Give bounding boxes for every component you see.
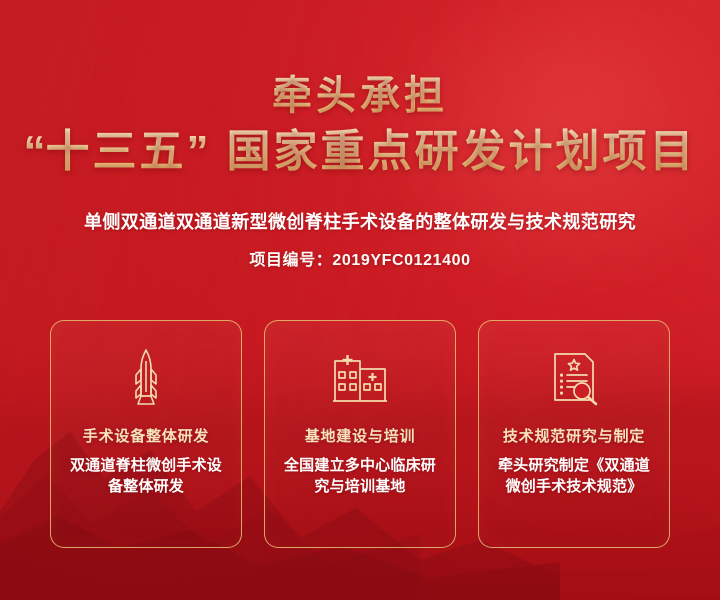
quote-close-glyph: ” <box>187 127 209 176</box>
rocket-icon <box>125 347 167 409</box>
page-title-keyword: 十三五 <box>46 127 187 176</box>
page-title-remainder: 国家重点研发计划项目 <box>227 127 697 176</box>
feature-card-list: 手术设备整体研发 双通道脊柱微创手术设备整体研发 <box>0 320 720 548</box>
feature-card-equipment[interactable]: 手术设备整体研发 双通道脊柱微创手术设备整体研发 <box>50 320 242 548</box>
feature-card-description: 双通道脊柱微创手术设备整体研发 <box>66 455 226 498</box>
feature-card-standards[interactable]: 技术规范研究与制定 牵头研究制定《双通道微创手术技术规范》 <box>478 320 670 548</box>
feature-card-description: 全国建立多中心临床研究与培训基地 <box>280 455 440 498</box>
background-glow <box>302 0 720 372</box>
document-search-icon <box>547 347 601 409</box>
feature-card-title: 技术规范研究与制定 <box>503 425 645 446</box>
quote-open-glyph: “ <box>24 127 46 176</box>
banner-stage: 牵头承担 “十三五”国家重点研发计划项目 单侧双通道双通道新型微创脊柱手术设备的… <box>0 0 720 600</box>
feature-card-training-base[interactable]: 基地建设与培训 全国建立多中心临床研究与培训基地 <box>264 320 456 548</box>
feature-card-title: 手术设备整体研发 <box>83 425 209 446</box>
project-subtitle: 单侧双通道双通道新型微创脊柱手术设备的整体研发与技术规范研究 <box>0 208 720 234</box>
hospital-building-icon <box>332 347 388 409</box>
headline-block: 牵头承担 “十三五”国家重点研发计划项目 <box>0 74 720 177</box>
page-title-line2: “十三五”国家重点研发计划项目 <box>0 127 720 177</box>
project-number: 项目编号：2019YFC0121400 <box>0 246 720 270</box>
feature-card-title: 基地建设与培训 <box>305 425 416 446</box>
page-title-line1: 牵头承担 <box>0 74 720 119</box>
feature-card-description: 牵头研究制定《双通道微创手术技术规范》 <box>494 455 654 498</box>
